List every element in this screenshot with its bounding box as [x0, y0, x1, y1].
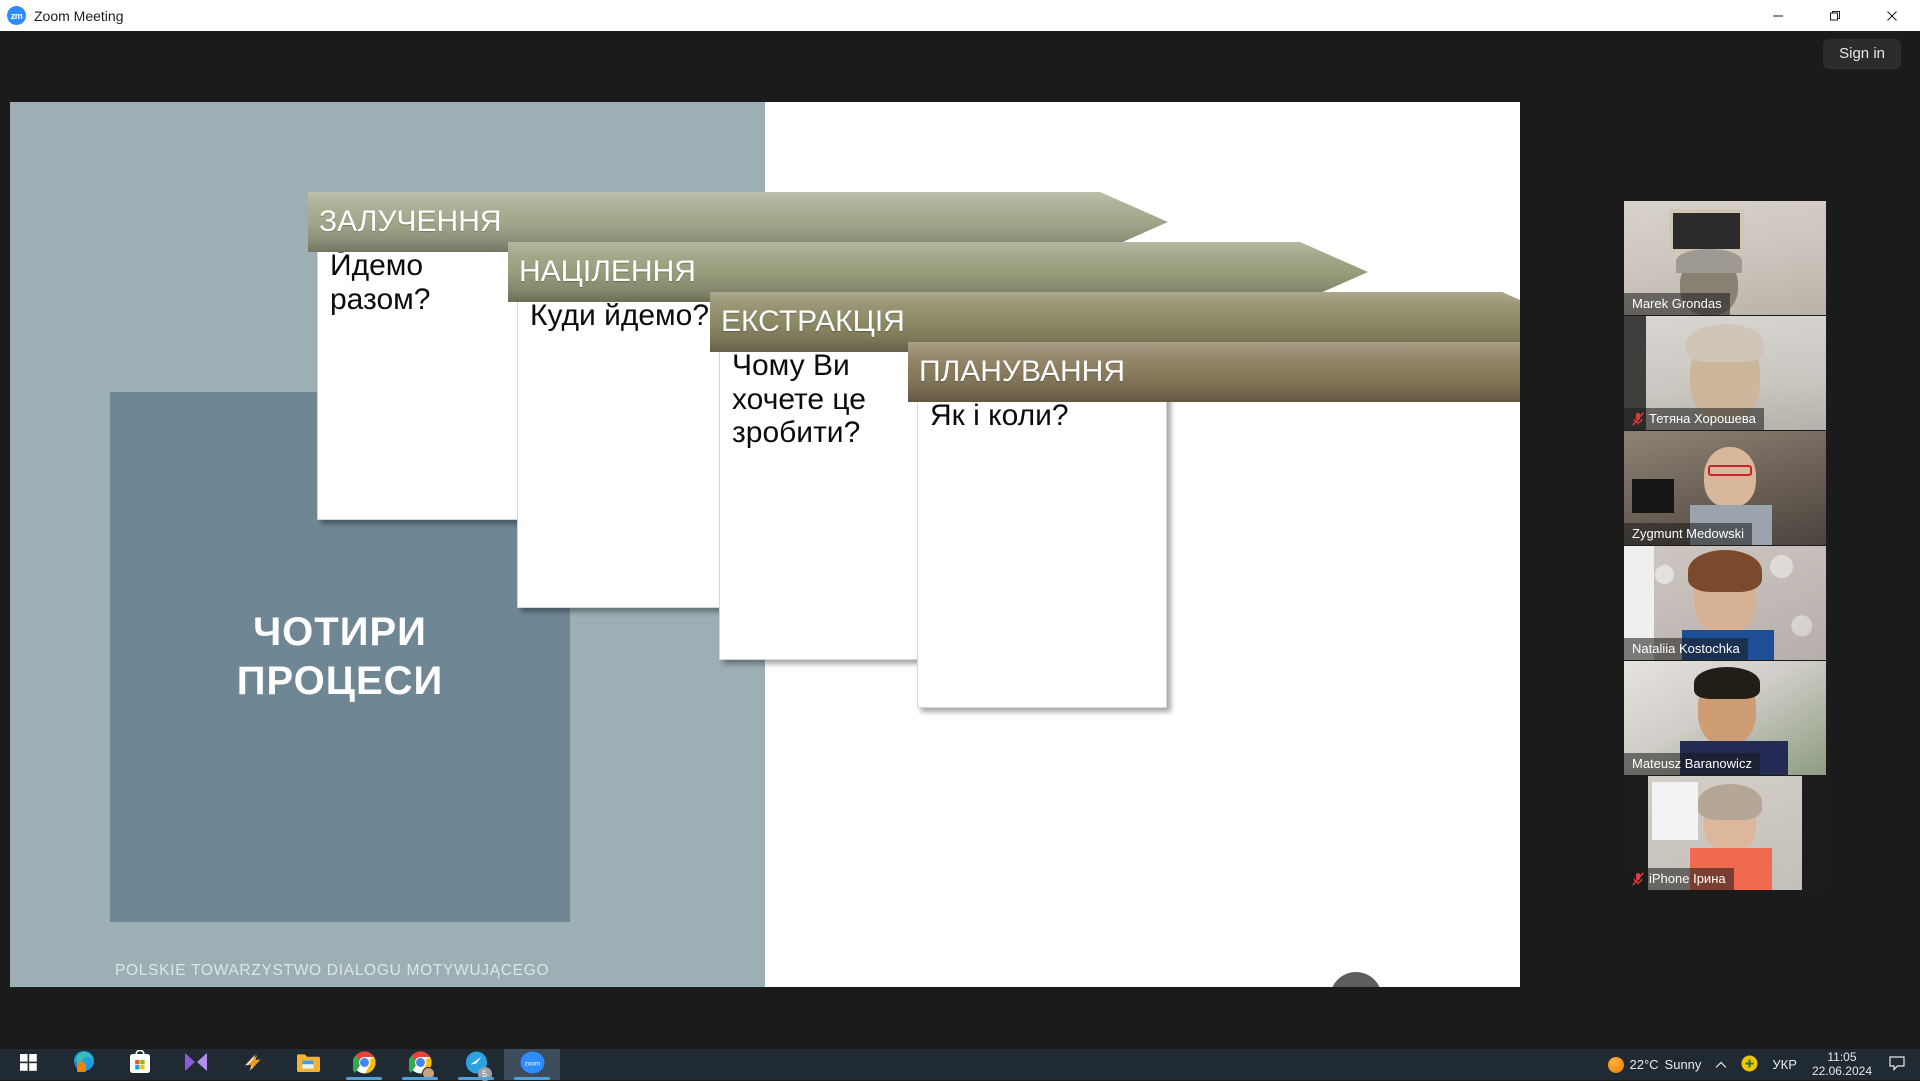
participant-name-2: Zygmunt Medowski — [1624, 523, 1752, 545]
windows-icon — [20, 1054, 37, 1076]
chrome-profile-button[interactable] — [392, 1049, 448, 1080]
participant-tile-0[interactable]: Marek Grondas — [1624, 201, 1826, 315]
zoom-meeting-window: Sign in ЧОТИРИ ПРОЦЕСИ POLSKIE TOWARZYST… — [0, 31, 1920, 1049]
window-controls — [1749, 0, 1920, 31]
sign-in-button[interactable]: Sign in — [1823, 39, 1901, 69]
window-title: Zoom Meeting — [34, 8, 123, 24]
process-step-3-label: ЕКСТРАКЦІЯ — [710, 305, 905, 339]
process-step-1-body: Йдемо разом? — [317, 238, 541, 520]
minimize-icon[interactable] — [1749, 0, 1806, 31]
participant-label-4: Mateusz Baranowicz — [1632, 756, 1752, 771]
sun-icon — [1608, 1057, 1624, 1073]
skype-button[interactable]: 5 — [448, 1049, 504, 1080]
skype-icon: 5 — [465, 1051, 488, 1079]
media-player-icon — [184, 1052, 208, 1077]
participant-tile-2[interactable]: Zygmunt Medowski — [1624, 431, 1826, 545]
process-step-2-label: НАЦІЛЕННЯ — [508, 255, 696, 289]
participant-filmstrip[interactable]: Marek Grondas Тетяна Хорошева — [1624, 201, 1826, 923]
participant-tile-1[interactable]: Тетяна Хорошева — [1624, 316, 1826, 430]
slide-main-title: ЧОТИРИ ПРОЦЕСИ — [237, 608, 444, 706]
chevron-up-icon — [1715, 1057, 1727, 1072]
participant-tile-3[interactable]: Nataliia Kostochka — [1624, 546, 1826, 660]
language-indicator[interactable]: УКР — [1765, 1049, 1804, 1080]
participant-label-0: Marek Grondas — [1632, 296, 1722, 311]
shield-update-icon — [1741, 1055, 1758, 1075]
chrome-icon — [353, 1051, 376, 1079]
close-icon[interactable] — [1863, 0, 1920, 31]
clock-time: 11:05 — [1827, 1051, 1856, 1065]
svg-text:zoom: zoom — [524, 1060, 540, 1067]
slide-main-title-line-1: ЧОТИРИ — [237, 608, 444, 657]
zoom-icon: zoom — [520, 1050, 545, 1080]
avatar — [422, 1067, 435, 1080]
notification-icon — [1889, 1056, 1905, 1074]
chrome-profile-icon — [409, 1051, 432, 1079]
shared-screen-slide[interactable]: ЧОТИРИ ПРОЦЕСИ POLSKIE TOWARZYSTWO DIALO… — [10, 102, 1520, 987]
start-button[interactable] — [0, 1049, 56, 1080]
process-step-4-body: Як і коли? — [917, 388, 1167, 708]
participant-name-3: Nataliia Kostochka — [1624, 638, 1748, 660]
windows-taskbar: 5 zoom 22°C Sunny — [0, 1049, 1920, 1080]
participant-label-5: iPhone Ірина — [1649, 871, 1726, 886]
slide-main-title-line-2: ПРОЦЕСИ — [237, 657, 444, 706]
media-player-button[interactable] — [168, 1049, 224, 1080]
folder-icon — [296, 1052, 321, 1078]
participant-name-1: Тетяна Хорошева — [1624, 408, 1764, 430]
edge-icon — [72, 1050, 96, 1079]
file-explorer-button[interactable] — [280, 1049, 336, 1080]
participant-tile-5[interactable]: iPhone Ірина — [1624, 776, 1826, 890]
chrome-button[interactable] — [336, 1049, 392, 1080]
microsoft-store-button[interactable] — [112, 1049, 168, 1080]
participant-name-5: iPhone Ірина — [1624, 868, 1734, 890]
zoom-button[interactable]: zoom — [504, 1049, 560, 1080]
store-icon — [129, 1050, 151, 1079]
participant-label-1: Тетяна Хорошева — [1649, 411, 1756, 426]
maximize-icon[interactable] — [1806, 0, 1863, 31]
weather-widget[interactable]: 22°C Sunny — [1601, 1049, 1709, 1080]
slide-footer-text: POLSKIE TOWARZYSTWO DIALOGU MOTYWUJĄCEGO — [115, 962, 549, 980]
participant-tile-4[interactable]: Mateusz Baranowicz — [1624, 661, 1826, 775]
clock-date: 22.06.2024 — [1812, 1065, 1872, 1079]
process-step-1-label: ЗАЛУЧЕННЯ — [308, 205, 502, 239]
winamp-icon — [241, 1051, 264, 1079]
muted-microphone-icon — [1632, 412, 1644, 426]
system-tray: 22°C Sunny УКР 11:0 — [1601, 1049, 1920, 1080]
participant-label-3: Nataliia Kostochka — [1632, 641, 1740, 656]
participant-label-2: Zygmunt Medowski — [1632, 526, 1744, 541]
meeting-top-bar: Sign in — [0, 31, 1920, 75]
zoom-logo-icon: zm — [7, 6, 26, 25]
show-hidden-icons-button[interactable] — [1708, 1049, 1734, 1080]
edge-button[interactable] — [56, 1049, 112, 1080]
badge-count: 5 — [478, 1067, 492, 1081]
window-title-bar: zm Zoom Meeting — [0, 0, 1920, 31]
slide-page-number: 23 — [1330, 972, 1382, 987]
process-step-4-label: ПЛАНУВАННЯ — [908, 355, 1125, 389]
process-step-4-header: ПЛАНУВАННЯ — [908, 342, 1520, 402]
language-label: УКР — [1772, 1057, 1797, 1072]
security-update-tray-icon[interactable] — [1734, 1049, 1765, 1080]
notification-center-button[interactable] — [1880, 1056, 1914, 1074]
weather-temperature: 22°C — [1630, 1057, 1659, 1072]
weather-description: Sunny — [1665, 1057, 1702, 1072]
participant-name-4: Mateusz Baranowicz — [1624, 753, 1760, 775]
winamp-button[interactable] — [224, 1049, 280, 1080]
muted-microphone-icon — [1632, 872, 1644, 886]
participant-name-0: Marek Grondas — [1624, 293, 1730, 315]
clock[interactable]: 11:05 22.06.2024 — [1804, 1051, 1880, 1079]
